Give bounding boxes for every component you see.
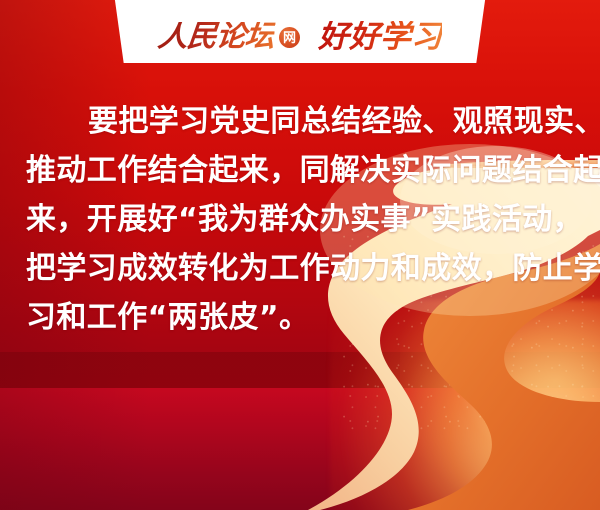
poster-canvas: 人民论坛 网 好好学习 要把学习党史同总结经验、观照现实、 推动工作结合起来，同… xyxy=(0,0,600,510)
header-banner: 人民论坛 网 好好学习 xyxy=(110,0,490,63)
slogan-text: 好好学习 xyxy=(318,21,442,52)
quote-block: 要把学习党史同总结经验、观照现实、 推动工作结合起来，同解决实际问题结合起 来，… xyxy=(26,97,574,342)
site-logo[interactable]: 人民论坛 网 xyxy=(158,22,300,52)
quote-line: 来，开展好“我为群众办实事”实践活动， xyxy=(26,195,574,244)
quote-line: 把学习成效转化为工作动力和成效，防止学 xyxy=(26,244,574,293)
site-logo-text: 人民论坛 xyxy=(156,22,275,52)
quote-line: 习和工作“两张皮”。 xyxy=(26,293,574,342)
quote-line: 推动工作结合起来，同解决实际问题结合起 xyxy=(26,146,574,195)
quote-line: 要把学习党史同总结经验、观照现实、 xyxy=(26,97,574,146)
web-badge-icon: 网 xyxy=(279,27,300,48)
